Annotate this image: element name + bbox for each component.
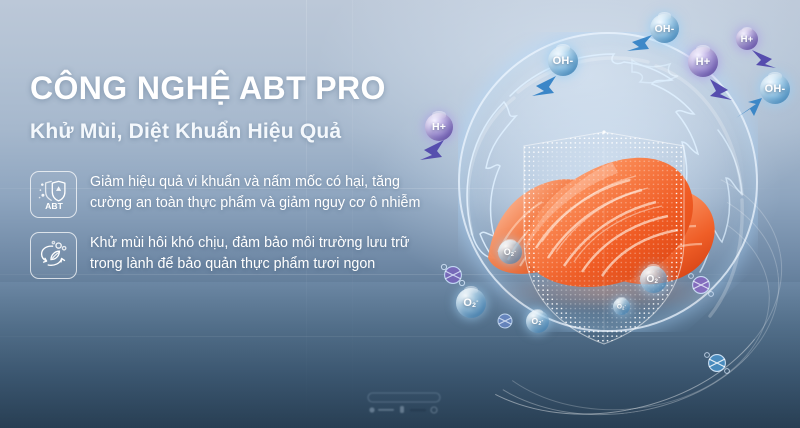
ion-flow-arrow <box>750 46 780 70</box>
abt-icon-label: ABT <box>45 201 63 211</box>
molecule-hydroxide-ion: OH- <box>650 14 679 43</box>
feature-text: Khử mùi hôi khó chịu, đảm bảo môi trường… <box>90 232 430 275</box>
page-subtitle: Khử Mùi, Diệt Khuẩn Hiệu Quả <box>30 120 430 144</box>
feature-text: Giảm hiệu quả vi khuẩn và nấm mốc có hại… <box>90 171 430 214</box>
product-visual: H+ OH- OH- OH- H+ H+ <box>418 10 800 428</box>
molecule-superoxide-ion: O2- <box>498 240 522 264</box>
product-feature-banner: CÔNG NGHỆ ABT PRO Khử Mùi, Diệt Khuẩn Hi… <box>0 0 800 428</box>
text-column: CÔNG NGHỆ ABT PRO Khử Mùi, Diệt Khuẩn Hi… <box>30 72 430 293</box>
molecule-superoxide-ion: O2- <box>640 266 667 293</box>
molecule-superoxide-ion: O2- <box>613 298 630 315</box>
molecule-hydroxide-ion: OH- <box>548 46 578 76</box>
molecule-hydroxide-ion: OH- <box>760 74 790 104</box>
molecule-superoxide-ion: O2- <box>526 310 549 333</box>
page-title: CÔNG NGHỆ ABT PRO <box>30 72 430 106</box>
feature-list: ABT Giảm hiệu quả vi khuẩn và nấm mốc có… <box>30 171 430 279</box>
molecule-superoxide-ion: O2- <box>456 288 486 318</box>
fridge-control-panel <box>352 392 456 418</box>
list-item: ABT Giảm hiệu quả vi khuẩn và nấm mốc có… <box>30 171 430 218</box>
ion-flow-arrow <box>416 138 446 164</box>
molecule-hydrogen-ion: H+ <box>425 113 453 141</box>
molecule-hydrogen-ion: H+ <box>688 47 718 77</box>
abt-shield-icon: ABT <box>30 171 77 218</box>
list-item: Khử mùi hôi khó chịu, đảm bảo môi trường… <box>30 232 430 279</box>
molecule-hydrogen-ion: H+ <box>736 28 758 50</box>
deodorize-leaf-icon <box>30 232 77 279</box>
